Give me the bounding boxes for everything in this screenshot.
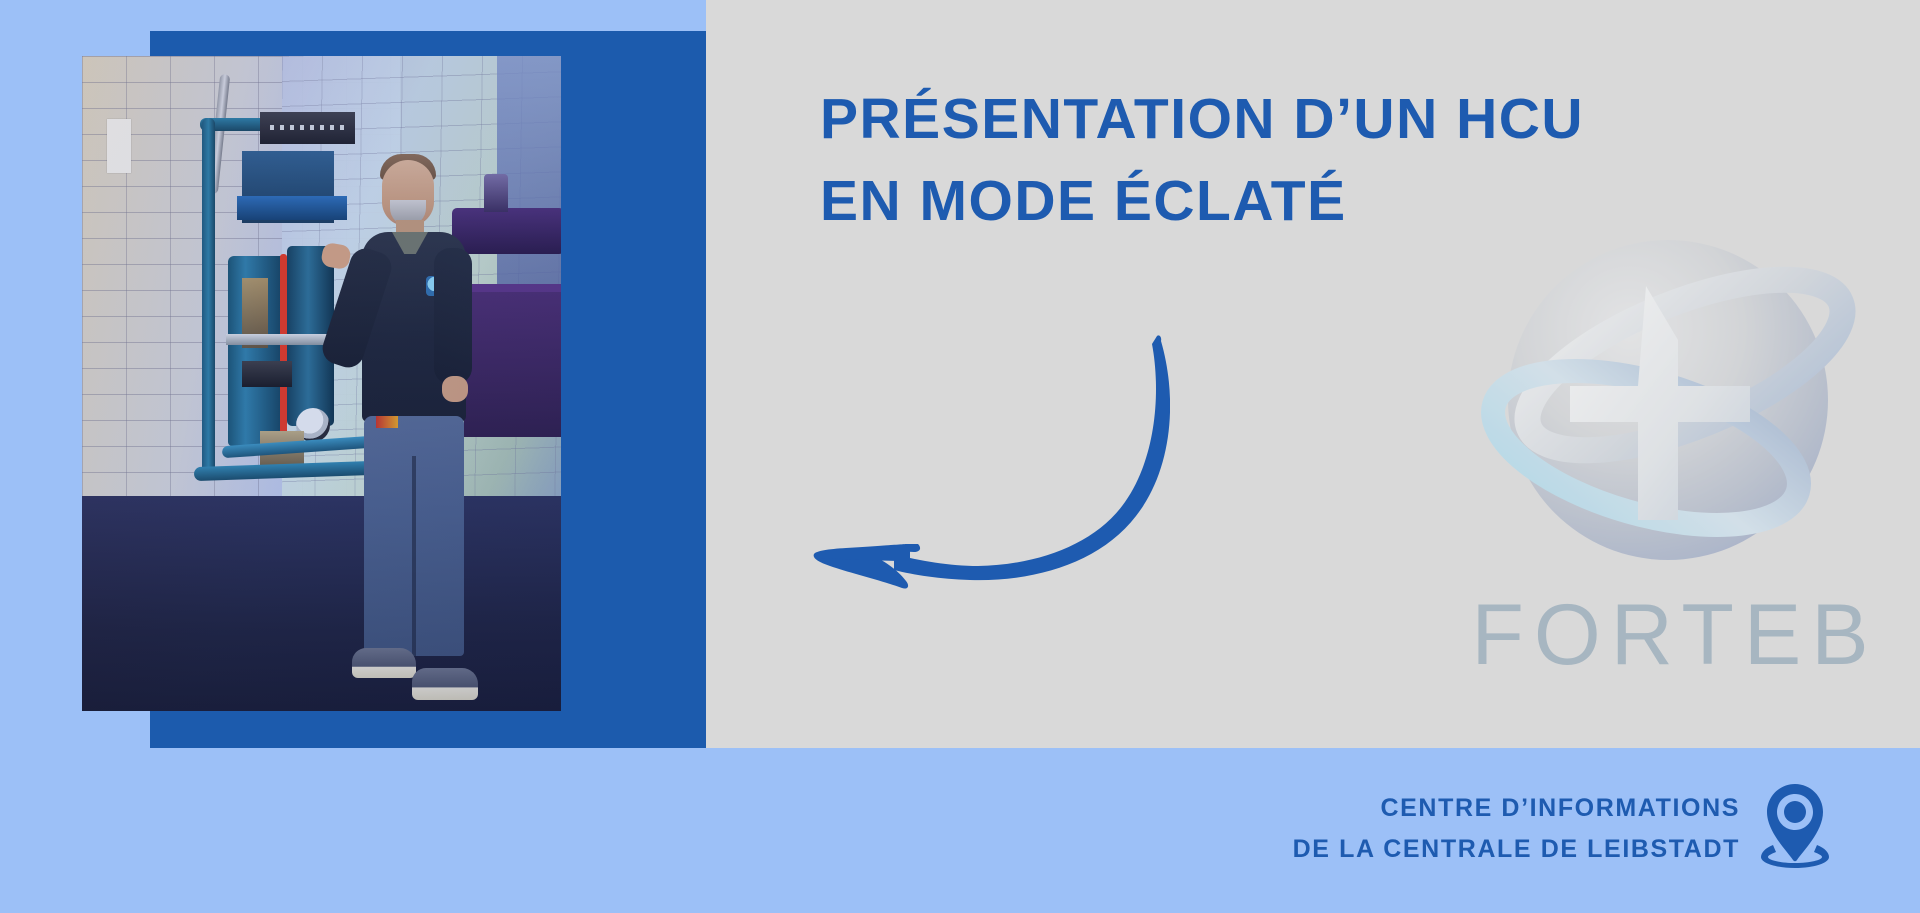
photo-scene bbox=[82, 56, 561, 711]
footer-line-1: CENTRE D’INFORMATIONS bbox=[1180, 788, 1740, 829]
poster-canvas: PRÉSENTATION D’UN HCU EN MODE ÉCLATÉ bbox=[0, 0, 1920, 913]
footer-line-2: DE LA CENTRALE DE LEIBSTADT bbox=[1180, 829, 1740, 870]
person-left-arm bbox=[434, 248, 472, 384]
forteb-logo: FORTEB bbox=[1450, 190, 1900, 690]
person-left-hand bbox=[442, 376, 468, 402]
hcu-dark-section bbox=[242, 361, 292, 387]
wall-notice-paper bbox=[107, 119, 131, 173]
location-pin-icon bbox=[1760, 782, 1830, 868]
title-line-1: PRÉSENTATION D’UN HCU bbox=[820, 88, 1900, 152]
footer-caption: CENTRE D’INFORMATIONS DE LA CENTRALE DE … bbox=[1180, 788, 1740, 869]
person-belt bbox=[376, 416, 398, 428]
pin-dot bbox=[1784, 801, 1806, 823]
hcu-control-box bbox=[260, 112, 355, 144]
forteb-wordmark: FORTEB bbox=[1450, 586, 1900, 685]
person-shoe-left bbox=[352, 648, 416, 678]
hcu-metal-band bbox=[226, 334, 336, 345]
person-jeans bbox=[364, 416, 464, 656]
person-presenter bbox=[338, 148, 498, 711]
hcu-manifold bbox=[237, 196, 347, 220]
arrow-curve-shape bbox=[894, 335, 1170, 580]
forteb-globe-logo bbox=[1450, 190, 1900, 610]
curved-arrow-pointing-left bbox=[810, 330, 1170, 590]
trolley-upright bbox=[202, 118, 215, 478]
person-shoe-right bbox=[412, 668, 478, 700]
hero-photo bbox=[82, 56, 561, 711]
hcu-red-stripe bbox=[280, 254, 287, 450]
hcu-cylinder-primary bbox=[228, 256, 286, 446]
